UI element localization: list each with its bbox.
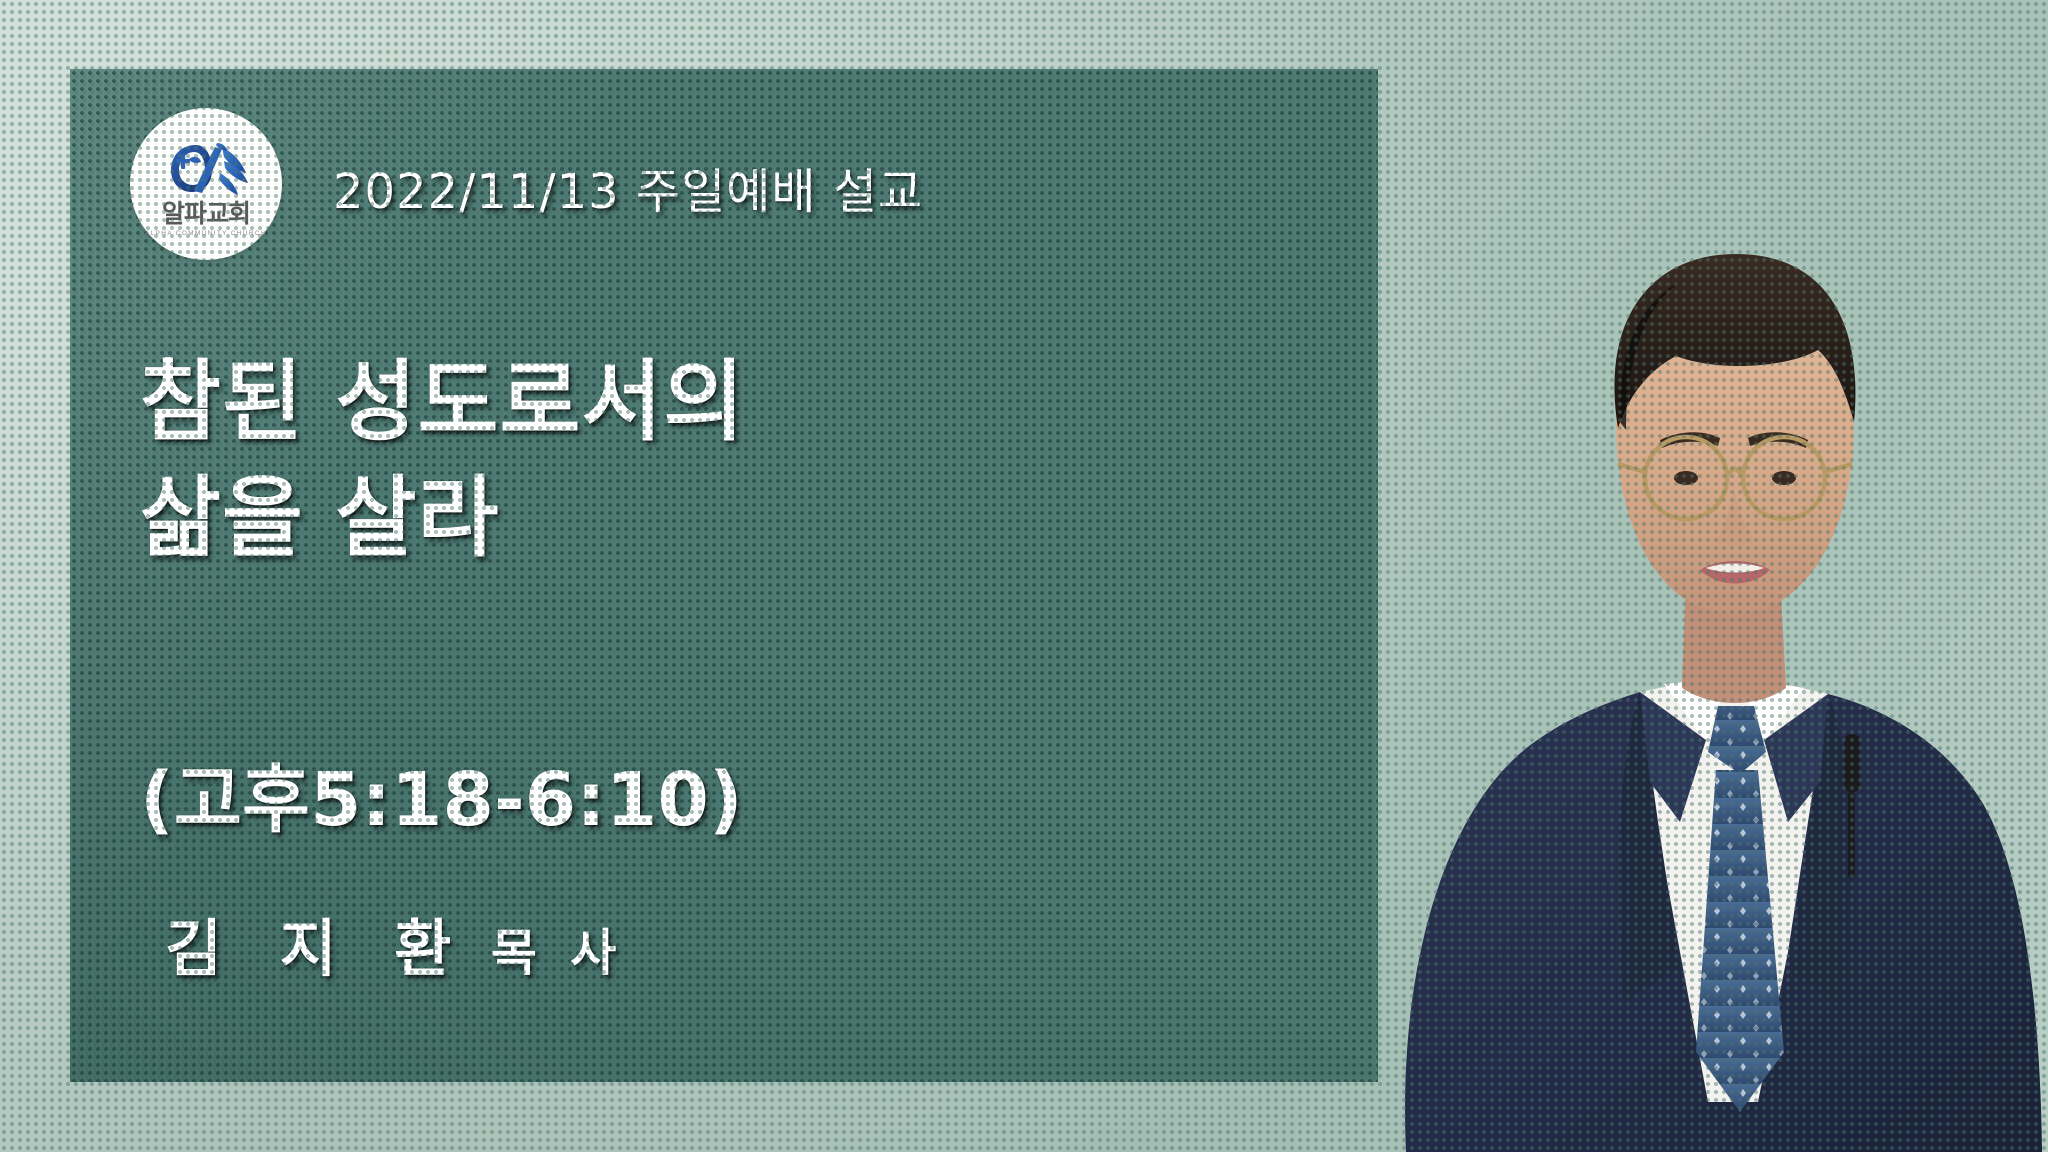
shirt — [1640, 678, 1828, 1102]
presenter-portrait — [1288, 122, 2048, 1152]
tie — [1696, 770, 1784, 1112]
face — [1616, 272, 1854, 614]
date-service-line: 2022/11/13 주일예배 설교 — [333, 152, 923, 222]
logo-subtitle: ALPHA COMMUNITY CHURCH — [145, 230, 267, 237]
hair — [1614, 254, 1855, 428]
sermon-title: 참된 성도로서의 삶을 살라 — [140, 344, 745, 576]
alpha-monogram-icon — [160, 137, 252, 197]
speaker-title: 목 사 — [491, 924, 624, 982]
speaker-line: 김 지 환 목 사 — [165, 898, 624, 988]
content-panel — [70, 69, 1378, 1082]
speaker-name: 김 지 환 — [165, 912, 469, 985]
glasses — [1618, 437, 1852, 519]
sermon-title-line-2: 삶을 살라 — [140, 460, 745, 576]
lapel-microphone — [1844, 734, 1860, 792]
panel-sheen — [70, 69, 1378, 1082]
church-logo: 알파교회 ALPHA COMMUNITY CHURCH — [130, 108, 282, 260]
sermon-title-line-1: 참된 성도로서의 — [140, 344, 745, 460]
logo-name: 알파교회 — [162, 201, 250, 226]
scripture-reference: (고후5:18-6:10) — [140, 740, 743, 847]
slide-background: 알파교회 ALPHA COMMUNITY CHURCH 2022/11/13 주… — [0, 0, 2048, 1152]
background-sheen — [0, 0, 2048, 1152]
suit — [1405, 682, 2042, 1152]
